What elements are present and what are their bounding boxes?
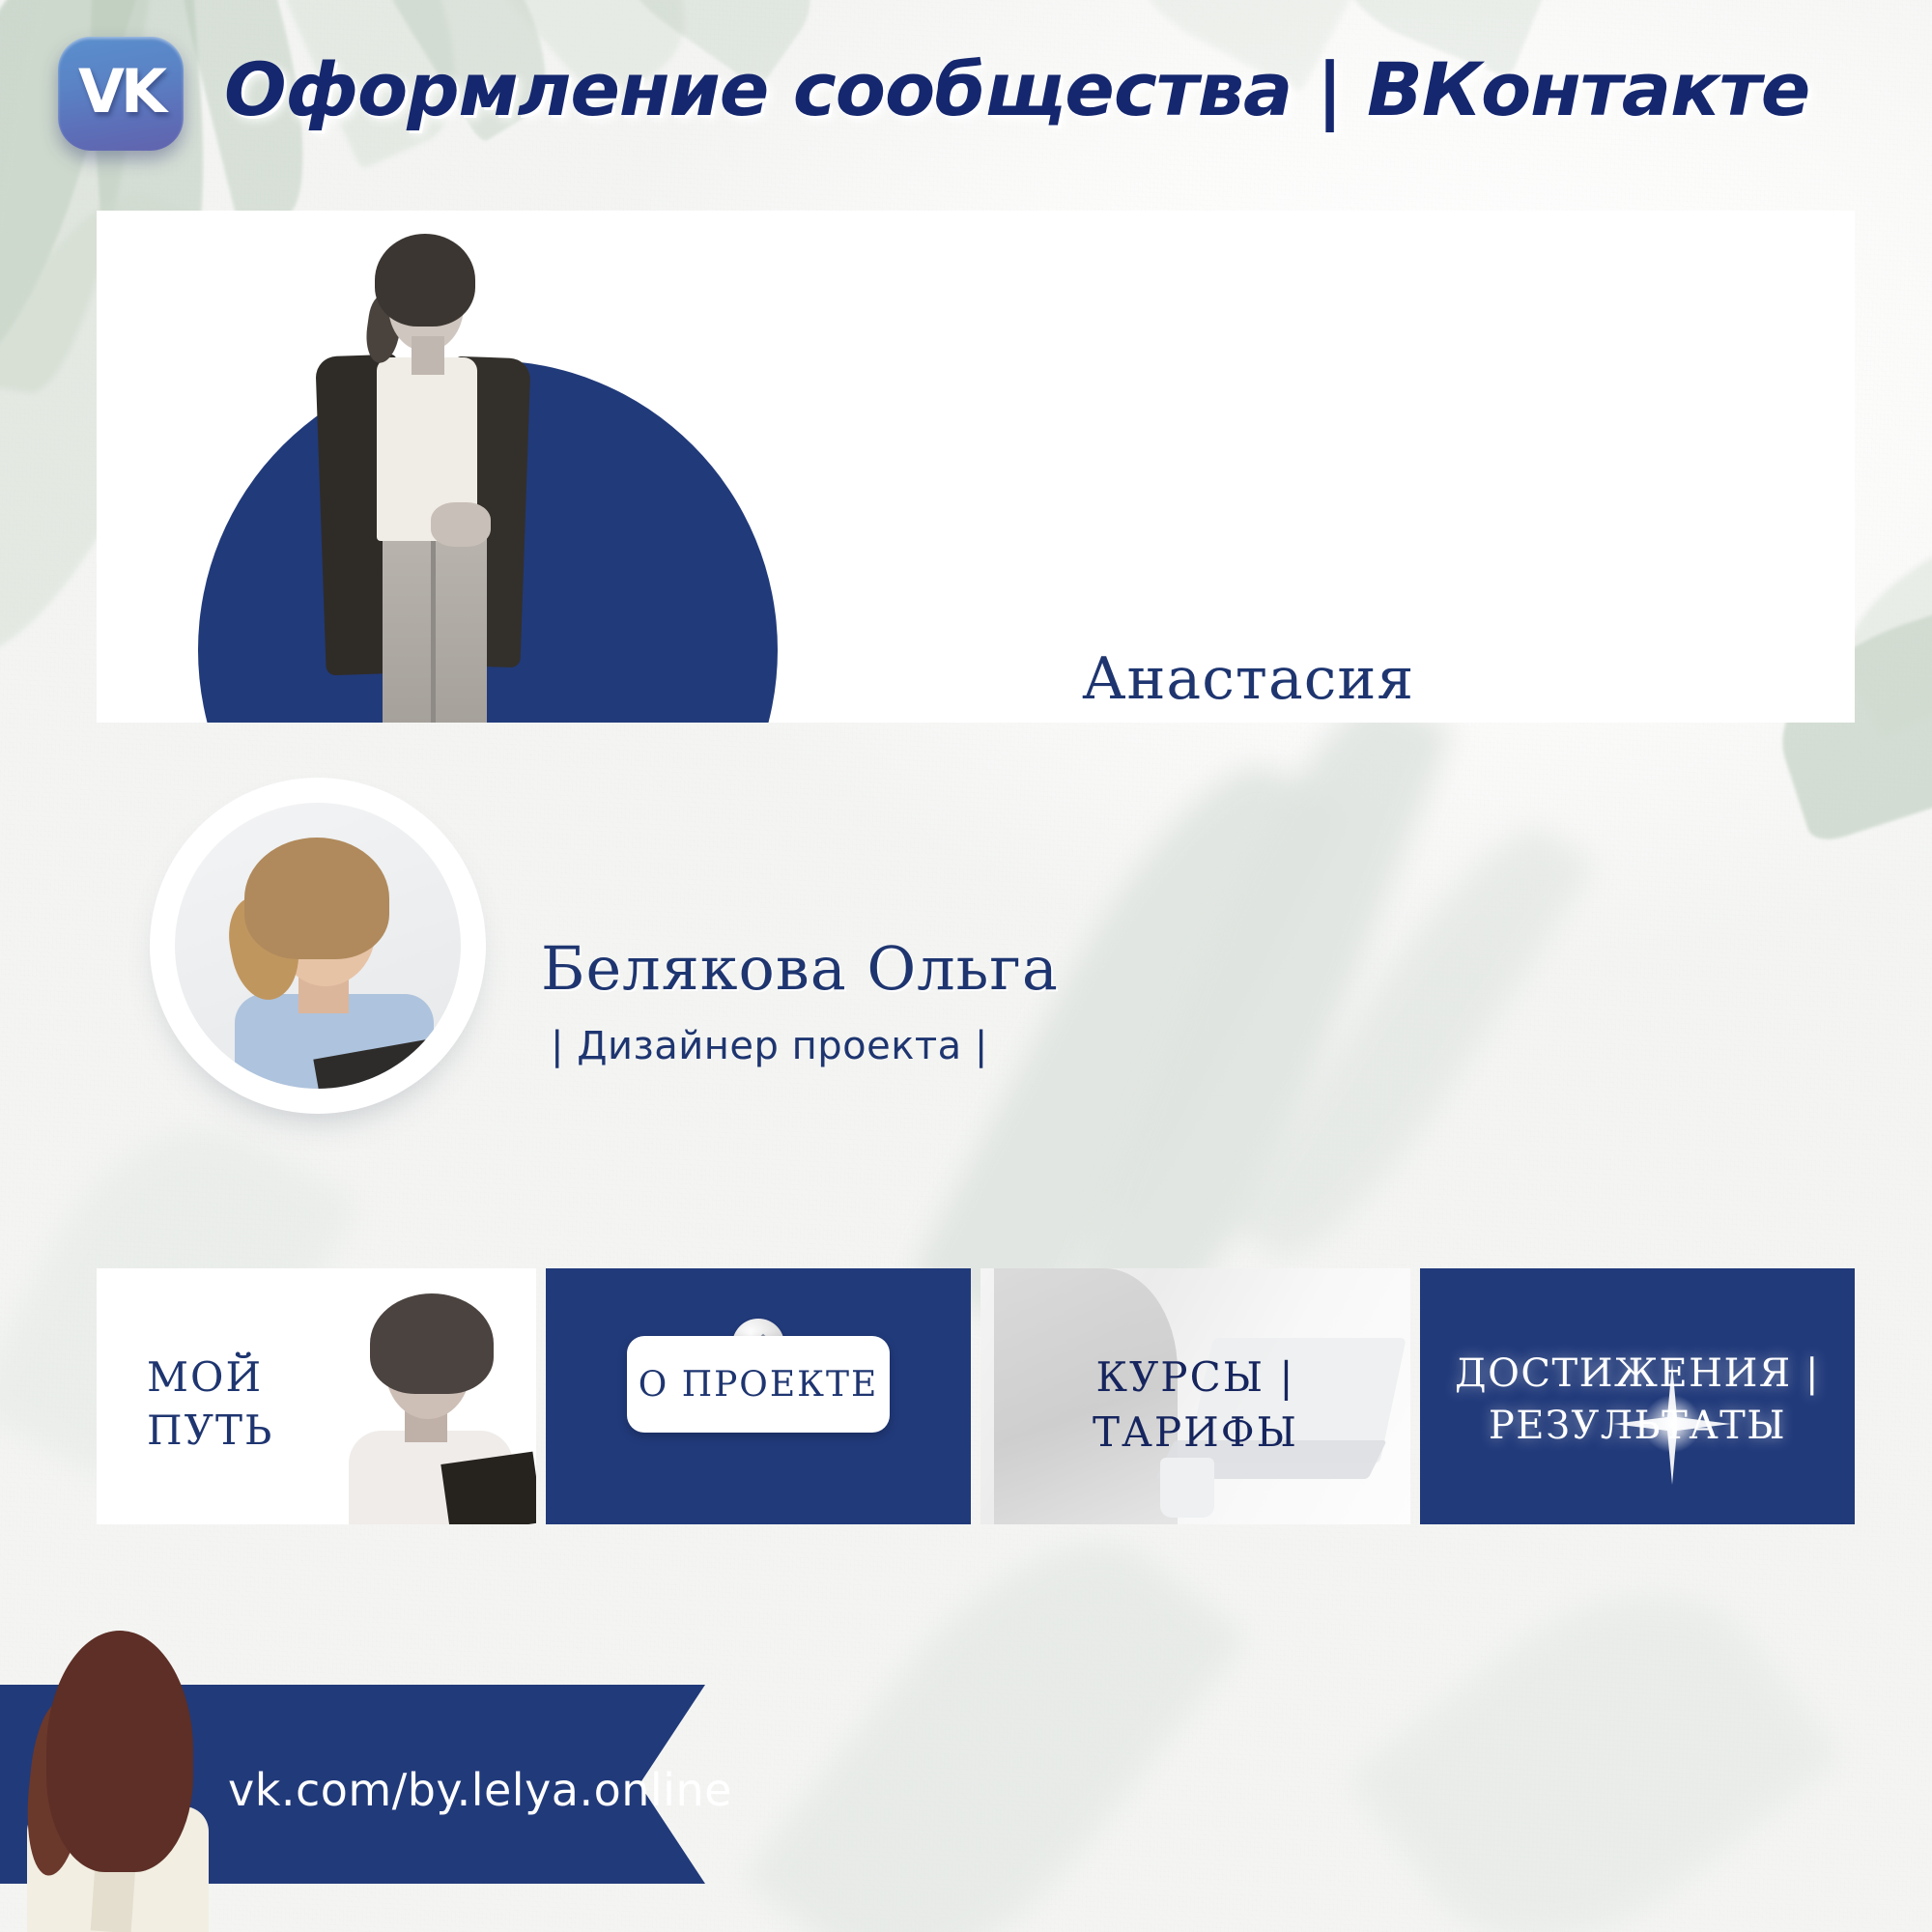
- nav-card-my-path-label: МОЙ ПУТЬ: [147, 1351, 273, 1457]
- cover-person-name: Анастасия: [1082, 645, 1414, 713]
- nav-card-my-path-line2: ПУТЬ: [147, 1405, 273, 1458]
- author-name: Белякова Ольга: [541, 933, 1059, 1004]
- vk-logo-icon[interactable]: VK: [58, 37, 184, 151]
- nav-card-my-path-line1: МОЙ: [147, 1351, 273, 1405]
- nav-card-courses-rates[interactable]: КУРСЫ | ТАРИФЫ: [980, 1268, 1410, 1524]
- nav-card-my-path-photo: [326, 1282, 528, 1524]
- page-title: Оформление сообщества | ВКонтакте: [224, 46, 1809, 132]
- nav-card-achievements-results-label: ДОСТИЖЕНИЯ | РЕЗУЛЬТАТЫ: [1420, 1348, 1855, 1452]
- footer-person-photo: [23, 1625, 213, 1932]
- nav-card-achievements-line1: ДОСТИЖЕНИЯ |: [1420, 1348, 1855, 1400]
- footer-url[interactable]: vk.com/by.lelya.online: [228, 1764, 732, 1816]
- nav-card-about-project-plate: О ПРОЕКТЕ: [627, 1336, 890, 1433]
- nav-card-row: МОЙ ПУТЬ О ПРОЕКТЕ КУРСЫ |: [97, 1268, 1855, 1524]
- nav-card-courses-line2: ТАРИФЫ: [980, 1406, 1410, 1461]
- nav-card-achievements-line2: РЕЗУЛЬТАТЫ: [1420, 1400, 1855, 1452]
- cover-person-photo: [261, 220, 580, 723]
- nav-card-my-path[interactable]: МОЙ ПУТЬ: [97, 1268, 536, 1524]
- avatar-photo: [175, 803, 461, 1089]
- nav-card-courses-line1: КУРСЫ |: [980, 1350, 1410, 1406]
- nav-card-about-project[interactable]: О ПРОЕКТЕ: [546, 1268, 971, 1524]
- vk-logo-text: VK: [78, 62, 163, 122]
- nav-card-about-project-label: О ПРОЕКТЕ: [639, 1365, 879, 1405]
- page-header: VK Оформление сообщества | ВКонтакте: [0, 0, 1932, 174]
- community-cover-banner[interactable]: Анастасия куратор онлайн школы: [97, 211, 1855, 723]
- author-role: | Дизайнер проекта |: [551, 1024, 988, 1068]
- nav-card-achievements-results[interactable]: ДОСТИЖЕНИЯ | РЕЗУЛЬТАТЫ: [1420, 1268, 1855, 1524]
- avatar[interactable]: [162, 790, 473, 1101]
- mug-icon: [1160, 1458, 1214, 1518]
- nav-card-courses-rates-label: КУРСЫ | ТАРИФЫ: [980, 1350, 1410, 1460]
